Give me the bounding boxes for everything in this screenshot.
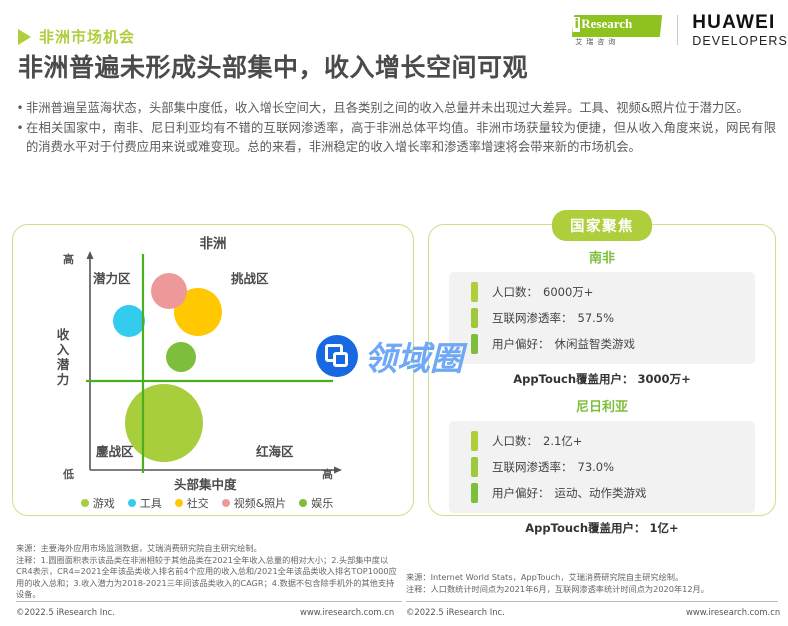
bubble-游戏	[125, 384, 203, 462]
watermark: 领域圈	[316, 332, 463, 380]
watermark-text: 领域圈	[364, 332, 463, 380]
bubble-工具	[113, 305, 145, 337]
watermark-square-inner	[333, 352, 348, 367]
country-focus-badge: 国家聚焦	[552, 210, 652, 241]
bubble-视频&照片	[151, 273, 187, 309]
slide-page: Research i 艾瑞咨询 HUAWEI DEVELOPERS 非洲市场机会…	[0, 0, 788, 626]
bubble-layer	[0, 0, 788, 626]
bubble-娱乐	[166, 342, 196, 372]
watermark-logo-icon	[316, 335, 358, 377]
